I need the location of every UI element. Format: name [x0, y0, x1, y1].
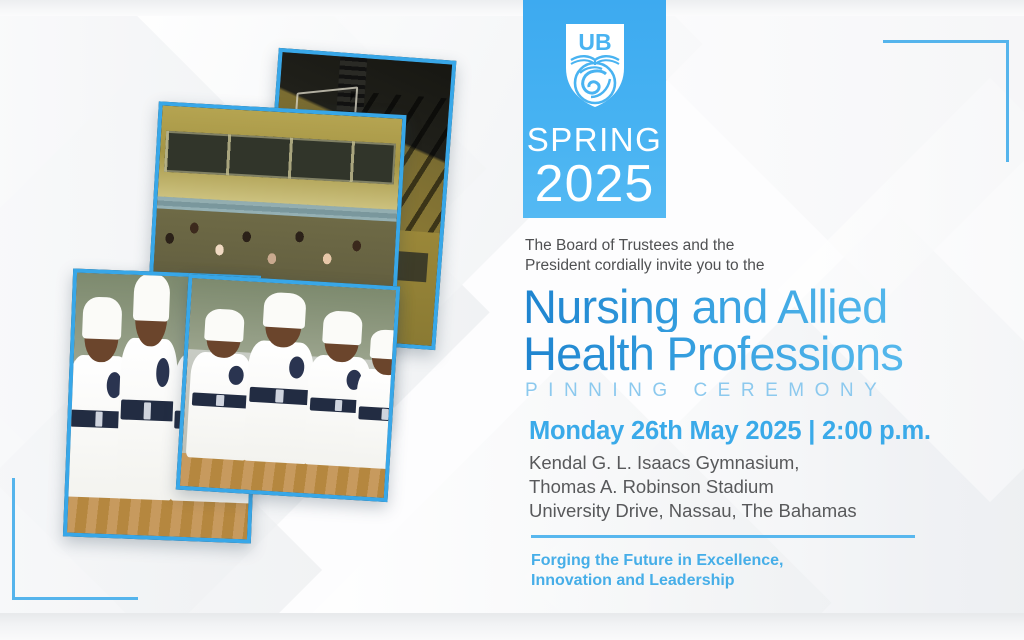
- invitation-line-1: The Board of Trustees and the: [525, 236, 945, 257]
- venue-line-2: Thomas A. Robinson Stadium: [529, 474, 969, 500]
- invitation-content: UB SPRING 2025 The Board of Trustees and…: [523, 0, 993, 640]
- invitation-line-2: President cordially invite you to the: [525, 256, 945, 277]
- headline-line-2: Health Professions: [523, 330, 993, 379]
- event-datetime: Monday 26th May 2025 | 2:00 p.m.: [529, 417, 989, 446]
- venue-line-3: University Drive, Nassau, The Bahamas: [529, 498, 969, 524]
- venue-line-1: Kendal G. L. Isaacs Gymnasium,: [529, 450, 969, 476]
- section-divider: [531, 535, 915, 538]
- headline-line-1: Nursing and Allied: [523, 283, 993, 332]
- season-label: SPRING: [527, 123, 663, 156]
- ub-season-banner: UB SPRING 2025: [523, 0, 666, 218]
- tagline-line-1: Forging the Future in Excellence,: [531, 550, 931, 571]
- ceremony-subtitle: PINNING CEREMONY: [525, 380, 965, 402]
- svg-text:UB: UB: [578, 29, 611, 55]
- photo-collage: [0, 0, 520, 640]
- tagline-line-2: Innovation and Leadership: [531, 570, 931, 591]
- nursing-graduates-photo: [176, 274, 400, 502]
- pinning-ceremony-poster: UB SPRING 2025 The Board of Trustees and…: [0, 0, 1024, 640]
- year-label: 2025: [535, 158, 655, 210]
- ub-shield-logo-icon: UB: [556, 16, 634, 117]
